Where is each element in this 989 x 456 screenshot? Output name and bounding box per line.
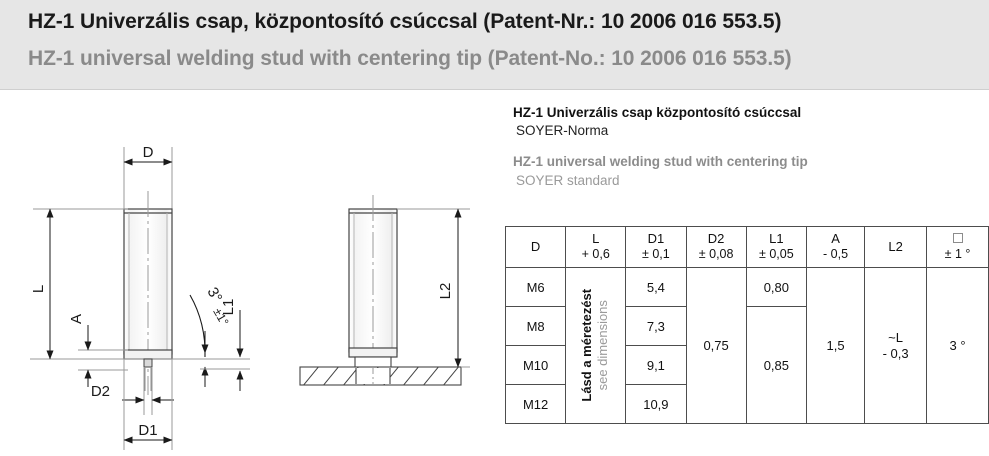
dim-label-d: D bbox=[143, 144, 154, 161]
cell-d-m8: M8 bbox=[506, 307, 566, 346]
column-header-d1: D1 ± 0,1 bbox=[626, 227, 686, 268]
column-header-d2: D2 ± 0,08 bbox=[686, 227, 746, 268]
column-header-l: L + 0,6 bbox=[566, 227, 626, 268]
right-stud-view: L2 bbox=[300, 195, 480, 387]
dim-label-l: L bbox=[30, 285, 47, 293]
description-title-hungarian: HZ-1 Univerzális csap központosító csúcc… bbox=[513, 104, 983, 122]
cell-l-see-dimensions: Lásd a méretezést see dimensions bbox=[566, 268, 626, 424]
cell-l2-line1: ~L bbox=[888, 330, 903, 345]
left-stud-view: D L A D2 bbox=[30, 144, 250, 450]
cell-d1-m6: 5,4 bbox=[626, 268, 686, 307]
dim-label-d1: D1 bbox=[138, 422, 157, 439]
description-standard-english: SOYER standard bbox=[513, 172, 983, 190]
technical-drawings: D L A D2 bbox=[0, 95, 500, 456]
column-header-l2: L2 bbox=[865, 227, 927, 268]
description-standard-hungarian: SOYER-Norma bbox=[513, 122, 983, 140]
column-header-a: A - 0,5 bbox=[806, 227, 864, 268]
cell-d-m10: M10 bbox=[506, 346, 566, 385]
dim-label-l1: L1 bbox=[220, 299, 237, 316]
see-dimensions-hungarian: Lásd a méretezést bbox=[579, 289, 595, 402]
cell-l1-merged: 0,85 bbox=[746, 307, 806, 424]
dim-label-a: A bbox=[68, 314, 85, 324]
product-description: HZ-1 Univerzális csap központosító csúcc… bbox=[513, 104, 983, 190]
cell-d1-m10: 9,1 bbox=[626, 346, 686, 385]
specification-table: D L + 0,6 D1 ± 0,1 D2 ± 0,08 L1 ± 0,05 A… bbox=[505, 226, 989, 424]
column-header-squareness: ± 1 ° bbox=[927, 227, 989, 268]
cell-squareness-merged: 3 ° bbox=[927, 268, 989, 424]
header-band: HZ-1 Univerzális csap, központosító csúc… bbox=[0, 0, 989, 90]
description-title-english: HZ-1 universal welding stud with centeri… bbox=[513, 153, 983, 171]
cell-l1-m6: 0,80 bbox=[746, 268, 806, 307]
cell-l2-line2: - 0,3 bbox=[883, 346, 909, 361]
drawing-svg: D L A D2 bbox=[0, 95, 500, 456]
table-header-row: D L + 0,6 D1 ± 0,1 D2 ± 0,08 L1 ± 0,05 A… bbox=[506, 227, 989, 268]
column-header-l1: L1 ± 0,05 bbox=[746, 227, 806, 268]
see-dimensions-english: see dimensions bbox=[596, 300, 612, 390]
cell-d-m6: M6 bbox=[506, 268, 566, 307]
table-row: M6 Lásd a méretezést see dimensions 5,4 … bbox=[506, 268, 989, 307]
page-title-hungarian: HZ-1 Univerzális csap, központosító csúc… bbox=[28, 10, 781, 34]
page-title-english: HZ-1 universal welding stud with centeri… bbox=[28, 47, 792, 71]
cell-a-merged: 1,5 bbox=[806, 268, 864, 424]
squareness-symbol-icon bbox=[953, 233, 963, 243]
cell-d-m12: M12 bbox=[506, 385, 566, 424]
cell-d1-m12: 10,9 bbox=[626, 385, 686, 424]
cell-d2-merged: 0,75 bbox=[686, 268, 746, 424]
dim-label-l2: L2 bbox=[437, 283, 454, 300]
cell-l2-merged: ~L - 0,3 bbox=[865, 268, 927, 424]
dim-label-d2: D2 bbox=[91, 383, 110, 400]
cell-d1-m8: 7,3 bbox=[626, 307, 686, 346]
column-header-d: D bbox=[506, 227, 566, 268]
base-plate bbox=[300, 365, 480, 387]
